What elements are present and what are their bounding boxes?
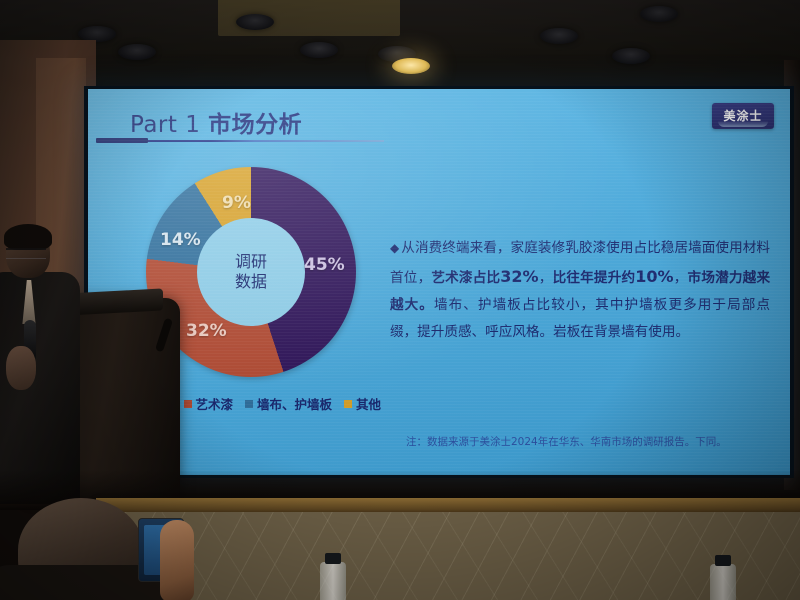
title-cn-label: 市场分析 — [208, 112, 302, 138]
downlight-icon — [640, 6, 678, 22]
legend-swatch-icon — [184, 400, 192, 408]
legend-swatch-icon — [344, 400, 352, 408]
donut-center-line1: 调研 — [235, 252, 267, 272]
legend-label: 墙布、护墙板 — [257, 394, 332, 413]
legend-item-4: 其他 — [344, 394, 381, 413]
body-stat-yoy-increase: 10% — [635, 267, 673, 286]
downlight-icon — [118, 44, 156, 60]
slice-value-lvjiaoqi: 45% — [304, 255, 345, 275]
photo-of-presentation-scene: Part 1 市场分析 美涂士 调研 数据 45% 32% 14% 9% 乳胶漆… — [0, 0, 800, 600]
logo-swoosh-icon — [718, 121, 768, 127]
marble-veining — [96, 512, 800, 600]
slide-footnote: 注：数据来源于美涂士2024年在华东、华南市场的调研报告。下同。 — [406, 434, 776, 449]
body-seg-7: 墙布、护墙板占比较小，其中护墙板更多用于局部点缀，提升质感、呼应风格。岩板在背景… — [390, 297, 770, 340]
diamond-bullet-icon: ◆ — [390, 241, 399, 255]
slice-value-qiangbu: 14% — [160, 230, 201, 250]
body-seg-4-bold: 比往年提升约 — [553, 270, 636, 286]
downlight-icon — [612, 48, 650, 64]
slice-value-qita: 9% — [222, 193, 251, 213]
title-part-label: Part 1 — [130, 112, 208, 138]
downlight-icon — [300, 42, 338, 58]
downlight-icon — [236, 14, 274, 30]
donut-center-line2: 数据 — [235, 272, 267, 292]
water-bottle — [320, 562, 346, 600]
legend-item-2: 艺术漆 — [184, 394, 234, 413]
presenter-hand — [6, 346, 36, 390]
downlight-icon — [540, 28, 578, 44]
body-seg-2-bold: 艺术漆占比 — [431, 270, 500, 286]
downlight-lit-icon — [392, 58, 430, 74]
body-paragraph: ◆从消费终端来看，家庭装修乳胶漆使用占比稳居墙面使用材料首位，艺术漆占比32%，… — [390, 235, 770, 346]
water-bottle — [710, 564, 736, 600]
donut-chart: 调研 数据 45% 32% 14% 9% — [146, 167, 376, 397]
body-seg-5: ， — [674, 270, 688, 286]
donut-center: 调研 数据 — [197, 218, 305, 326]
presenter — [0, 228, 72, 504]
bottle-cap — [715, 555, 731, 566]
marble-wall-panel — [96, 512, 800, 600]
legend-item-3: 墙布、护墙板 — [245, 394, 332, 413]
body-stat-art-paint-share: 32% — [500, 267, 538, 286]
legend-swatch-icon — [245, 400, 253, 408]
body-text-column: ◆从消费终端来看，家庭装修乳胶漆使用占比稳居墙面使用材料首位，艺术漆占比32%，… — [390, 221, 770, 359]
pointing-hand — [160, 520, 194, 600]
page-title: Part 1 市场分析 — [130, 105, 302, 139]
legend-label: 艺术漆 — [196, 394, 234, 413]
glasses-icon — [6, 248, 46, 259]
bottle-cap — [325, 553, 341, 564]
legend-label: 其他 — [356, 394, 381, 413]
brand-logo: 美涂士 — [712, 103, 774, 129]
presenter-hair — [4, 224, 52, 250]
title-underline-cap — [96, 138, 148, 143]
projection-screen: Part 1 市场分析 美涂士 调研 数据 45% 32% 14% 9% 乳胶漆… — [88, 89, 790, 475]
body-seg-3: ， — [539, 270, 553, 286]
slice-value-yishuqi: 32% — [186, 321, 227, 341]
